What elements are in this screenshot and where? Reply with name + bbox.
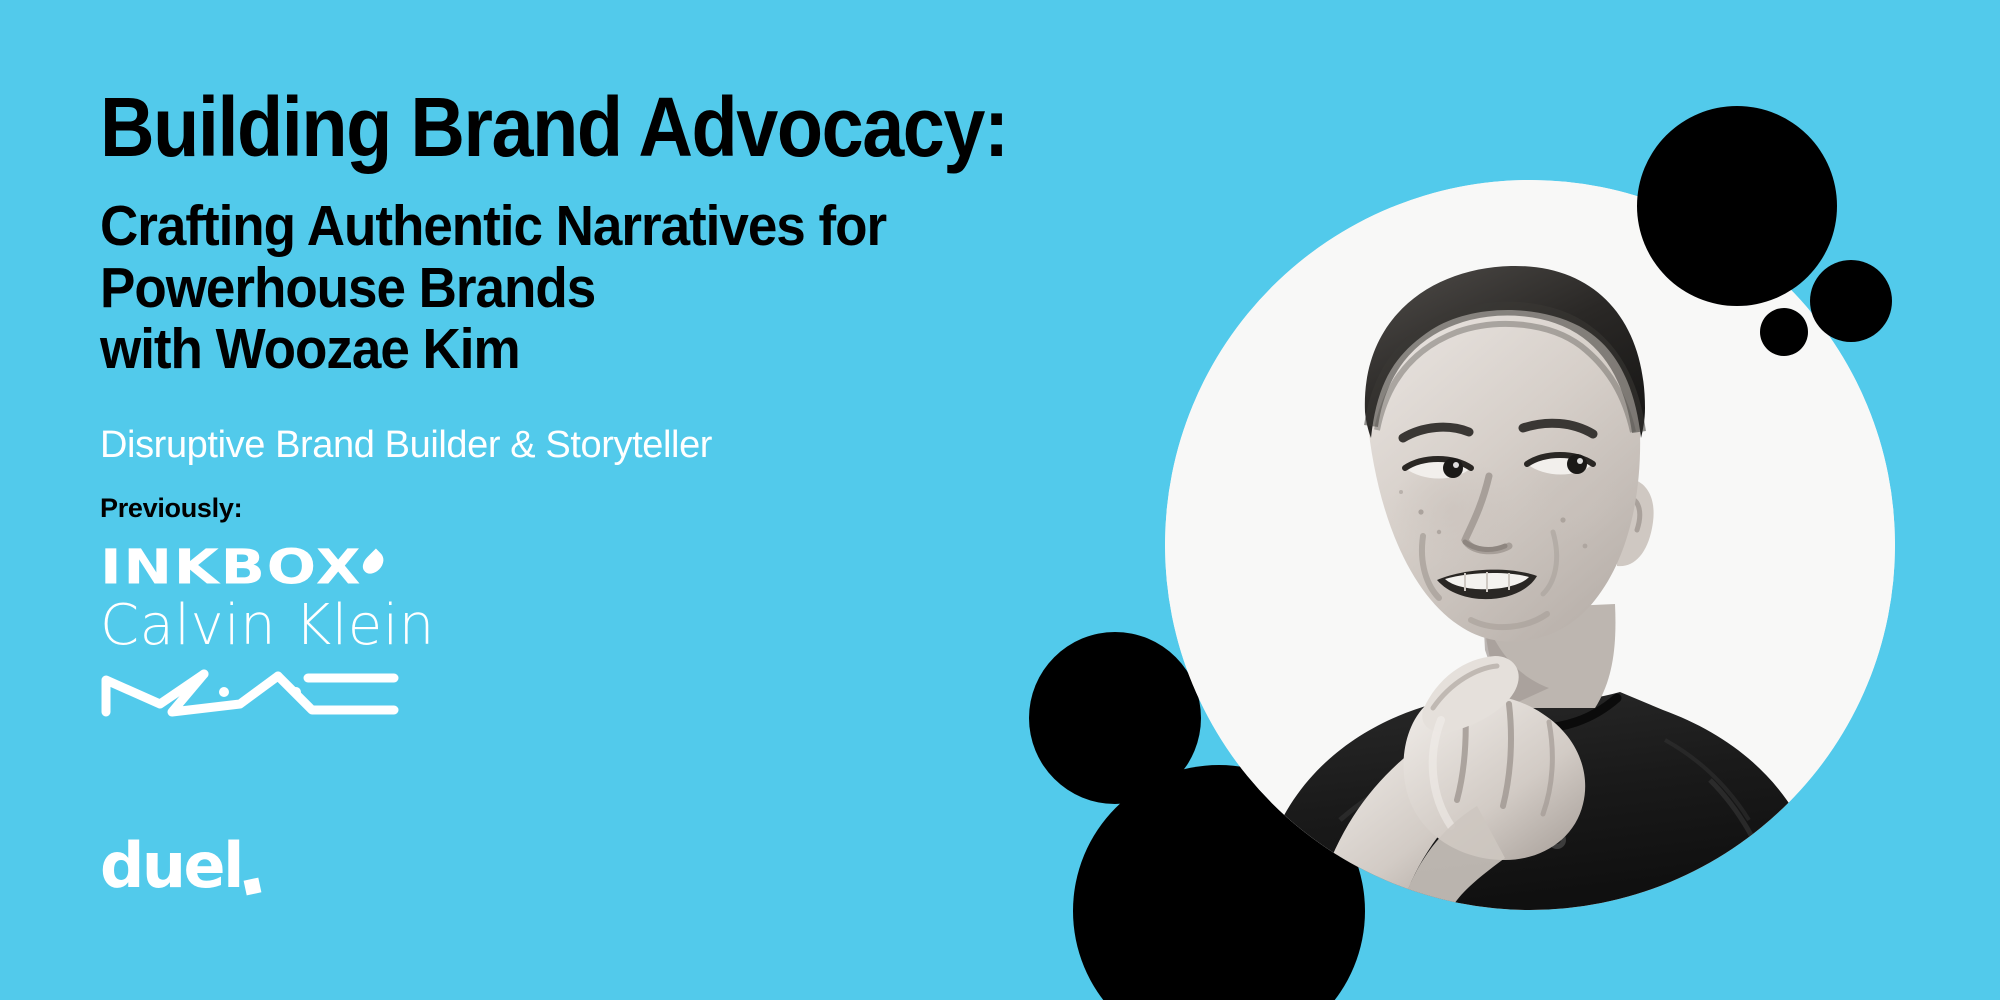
- brand-logo-mac: [100, 664, 400, 720]
- subtitle-line-3: with Woozae Kim: [100, 319, 1197, 381]
- duel-logo-dot: [243, 878, 261, 896]
- speaker-role: Disruptive Brand Builder & Storyteller: [100, 425, 1280, 467]
- ink-drop-icon: [359, 548, 388, 577]
- page-subtitle: Crafting Authentic Narratives for Powerh…: [100, 196, 1197, 381]
- mac-separator-dot-2: [291, 687, 301, 697]
- decorative-circle-top-right-large: [1637, 106, 1837, 306]
- previously-label: Previously:: [100, 493, 1280, 524]
- brand-logo-inkbox: INKBOX: [100, 540, 520, 596]
- subtitle-line-1: Crafting Authentic Narratives for: [100, 196, 1197, 258]
- content-column: Building Brand Advocacy: Crafting Authen…: [100, 86, 1280, 720]
- decorative-circle-top-right-small: [1760, 308, 1808, 356]
- webinar-promo-banner: Building Brand Advocacy: Crafting Authen…: [0, 0, 2000, 1000]
- subtitle-line-2: Powerhouse Brands: [100, 258, 1197, 320]
- decorative-circle-top-right-medium: [1810, 260, 1892, 342]
- duel-logo-wordmark: duel: [100, 835, 242, 897]
- brand-logo-mac-wordmark: [100, 664, 400, 720]
- previous-brand-logos: INKBOX Calvin Klein: [100, 540, 520, 720]
- page-title: Building Brand Advocacy:: [100, 86, 1162, 168]
- brand-logo-inkbox-wordmark: INKBOX: [100, 544, 362, 592]
- brand-logo-calvin-klein: Calvin Klein: [100, 598, 520, 660]
- brand-logo-calvin-klein-wordmark: Calvin Klein: [100, 598, 435, 654]
- duel-logo: duel: [100, 835, 260, 897]
- mac-separator-dot-1: [219, 687, 229, 697]
